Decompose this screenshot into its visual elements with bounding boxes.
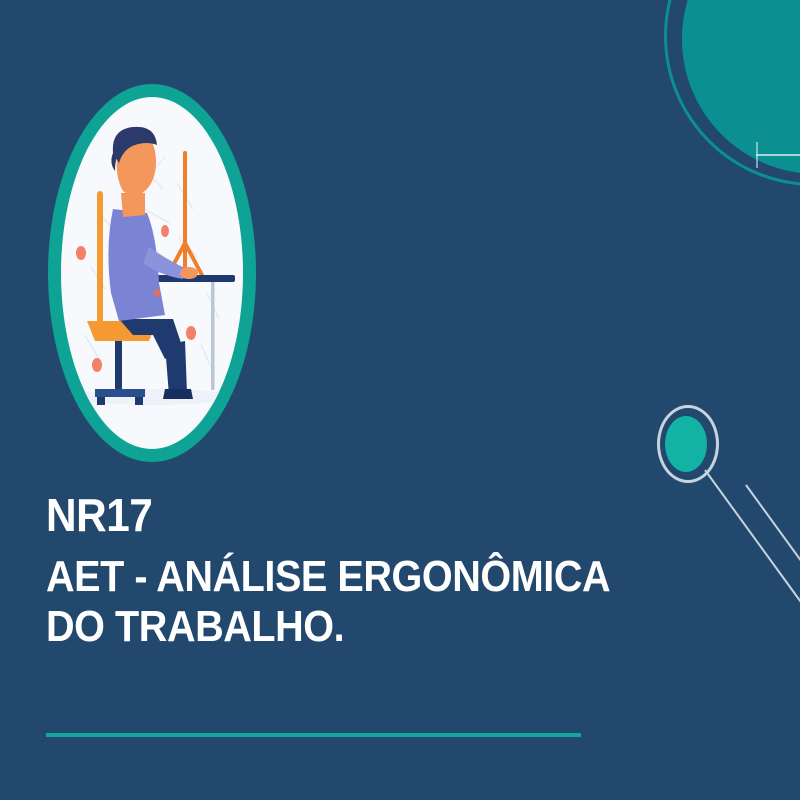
headline-subject-line-1: AET - ANÁLISE ERGONÔMICA <box>46 552 676 602</box>
banner-image: NR17 AET - ANÁLISE ERGONÔMICA DO TRABALH… <box>0 0 800 800</box>
badge-inner-panel <box>61 97 243 449</box>
office-worker-at-desk-icon <box>61 97 243 449</box>
headline-nr17: NR17 <box>46 492 690 538</box>
diagonal-line-decoration-1 <box>745 484 800 752</box>
pointer-line-decoration <box>756 154 800 156</box>
illustration-badge <box>48 84 256 462</box>
headline-subject: AET - ANÁLISE ERGONÔMICA DO TRABALHO. <box>46 552 676 652</box>
magnifier-lens-decoration <box>665 416 707 472</box>
headline-underline <box>46 733 581 737</box>
headline-subject-line-2: DO TRABALHO. <box>46 602 676 652</box>
large-filled-circle-decoration <box>682 0 800 174</box>
headline-block: NR17 AET - ANÁLISE ERGONÔMICA DO TRABALH… <box>46 492 746 652</box>
